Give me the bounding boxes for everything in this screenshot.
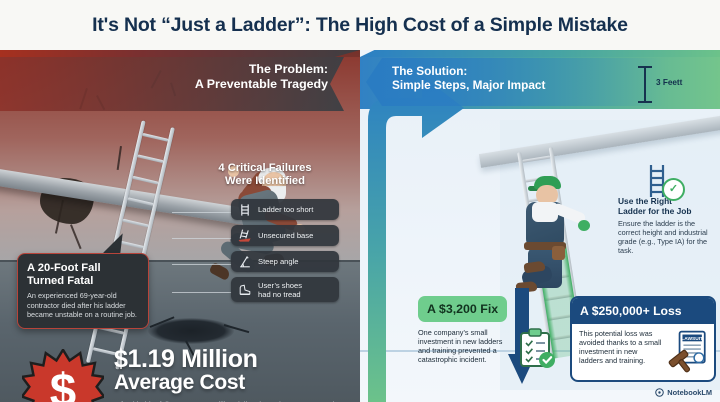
- unsecured-base-icon: [237, 228, 253, 244]
- notebooklm-icon: [655, 388, 664, 397]
- right-ladder-tip-line2: Ladder for the Job: [618, 206, 692, 216]
- fix-card-body: One company’s small investment in new la…: [418, 328, 513, 364]
- dimension-tick-top: [638, 66, 652, 68]
- fix-card-heading-pill: A $3,200 Fix: [418, 296, 507, 322]
- left-accent-strip: [0, 50, 360, 57]
- problem-header-text: The Problem: A Preventable Tragedy: [150, 62, 328, 92]
- loss-card-heading-bar: A $250,000+ Loss: [572, 298, 714, 324]
- failures-heading-line1: 4 Critical Failures: [190, 162, 340, 175]
- right-ladder-tip-body: Ensure the ladder is the correct height …: [618, 219, 714, 255]
- solution-header-text: The Solution: Simple Steps, Major Impact: [392, 64, 545, 92]
- failure-label: User’s shoeshad no tread: [258, 281, 302, 299]
- failure-label: Steep angle: [258, 257, 299, 266]
- failure-label-line1: User’s shoes: [258, 281, 302, 290]
- title-bar: It's Not “Just a Ladder”: The High Cost …: [0, 0, 720, 50]
- angle-icon: [237, 254, 253, 270]
- callout-title-line2: Turned Fatal: [27, 275, 93, 287]
- dimension-tick-bottom: [638, 101, 652, 103]
- right-ladder-tip: Use the Right Ladder for the Job Ensure …: [618, 196, 714, 255]
- cost-text-group: $1.19 Million Average Cost A fatal ladde…: [114, 347, 352, 402]
- average-cost-block: $ $1.19 Million Average Cost A fatal lad…: [10, 345, 354, 402]
- problem-panel: The Problem: A Preventable Tragedy 4 Cri…: [0, 50, 360, 402]
- failures-heading: 4 Critical Failures Were Identified: [190, 162, 340, 188]
- callout-title: A 20-Foot Fall Turned Fatal: [27, 262, 139, 287]
- failures-list: Ladder too short Unsecured base: [231, 199, 339, 307]
- leader-line: [172, 264, 232, 265]
- dimension-vertical-line: [644, 66, 646, 102]
- right-accent-strip: [360, 50, 720, 57]
- failure-label-line2: had no tread: [258, 290, 301, 299]
- loss-card-body-row: This potential loss was avoided thanks t…: [572, 324, 714, 380]
- ladder-icon: [237, 202, 253, 218]
- loss-card-heading: A $250,000+ Loss: [580, 304, 682, 318]
- problem-header-line2: A Preventable Tragedy: [150, 77, 328, 92]
- fatal-fall-callout: A 20-Foot Fall Turned Fatal An experienc…: [17, 253, 149, 329]
- loss-card: A $250,000+ Loss This potential loss was…: [570, 296, 716, 382]
- right-ladder-tip-title: Use the Right Ladder for the Job: [618, 196, 714, 216]
- leader-line: [172, 212, 232, 213]
- fix-card-body-row: One company’s small investment in new la…: [418, 328, 566, 370]
- infographic-canvas: It's Not “Just a Ladder”: The High Cost …: [0, 0, 720, 402]
- failure-item-no-tread-shoes[interactable]: User’s shoeshad no tread: [231, 277, 339, 302]
- fix-card: A $3,200 Fix One company’s small investm…: [418, 296, 566, 370]
- top-dimension-label: 3 Feett: [656, 78, 682, 87]
- fix-card-heading: A $3,200 Fix: [427, 302, 498, 316]
- solution-header-line1: The Solution:: [392, 64, 545, 78]
- gavel-lawsuit-icon: LAWSUIT: [666, 329, 707, 373]
- boot-icon: [237, 282, 253, 298]
- problem-header-line1: The Problem:: [150, 62, 328, 77]
- failure-item-unsecured-base[interactable]: Unsecured base: [231, 225, 339, 246]
- cost-label: Average Cost: [114, 371, 352, 395]
- callout-body: An experienced 69-year-old contractor di…: [27, 291, 139, 319]
- callout-title-line1: A 20-Foot Fall: [27, 262, 101, 274]
- dollar-starburst-icon: $: [22, 349, 104, 402]
- loss-card-body: This potential loss was avoided thanks t…: [579, 329, 662, 365]
- leader-line: [172, 292, 232, 293]
- lawsuit-doc-label: LAWSUIT: [682, 336, 704, 342]
- svg-text:$: $: [50, 364, 76, 402]
- clipboard-check-icon: [518, 328, 556, 370]
- leader-line: [172, 238, 232, 239]
- solution-header-line2: Simple Steps, Major Impact: [392, 78, 545, 92]
- right-ladder-tip-line1: Use the Right: [618, 196, 672, 206]
- failure-item-ladder-too-short[interactable]: Ladder too short: [231, 199, 339, 220]
- failure-label: Ladder too short: [258, 205, 313, 214]
- page-title: It's Not “Just a Ladder”: The High Cost …: [92, 14, 628, 37]
- notebooklm-watermark: NotebookLM: [655, 388, 712, 397]
- check-glyph: ✓: [669, 184, 678, 195]
- check-circle-icon: ✓: [662, 178, 685, 201]
- cost-amount: $1.19 Million: [114, 347, 352, 371]
- failure-label: Unsecured base: [258, 231, 313, 240]
- failure-item-steep-angle[interactable]: Steep angle: [231, 251, 339, 272]
- notebooklm-label: NotebookLM: [667, 388, 712, 397]
- failures-heading-line2: Were Identified: [190, 175, 340, 188]
